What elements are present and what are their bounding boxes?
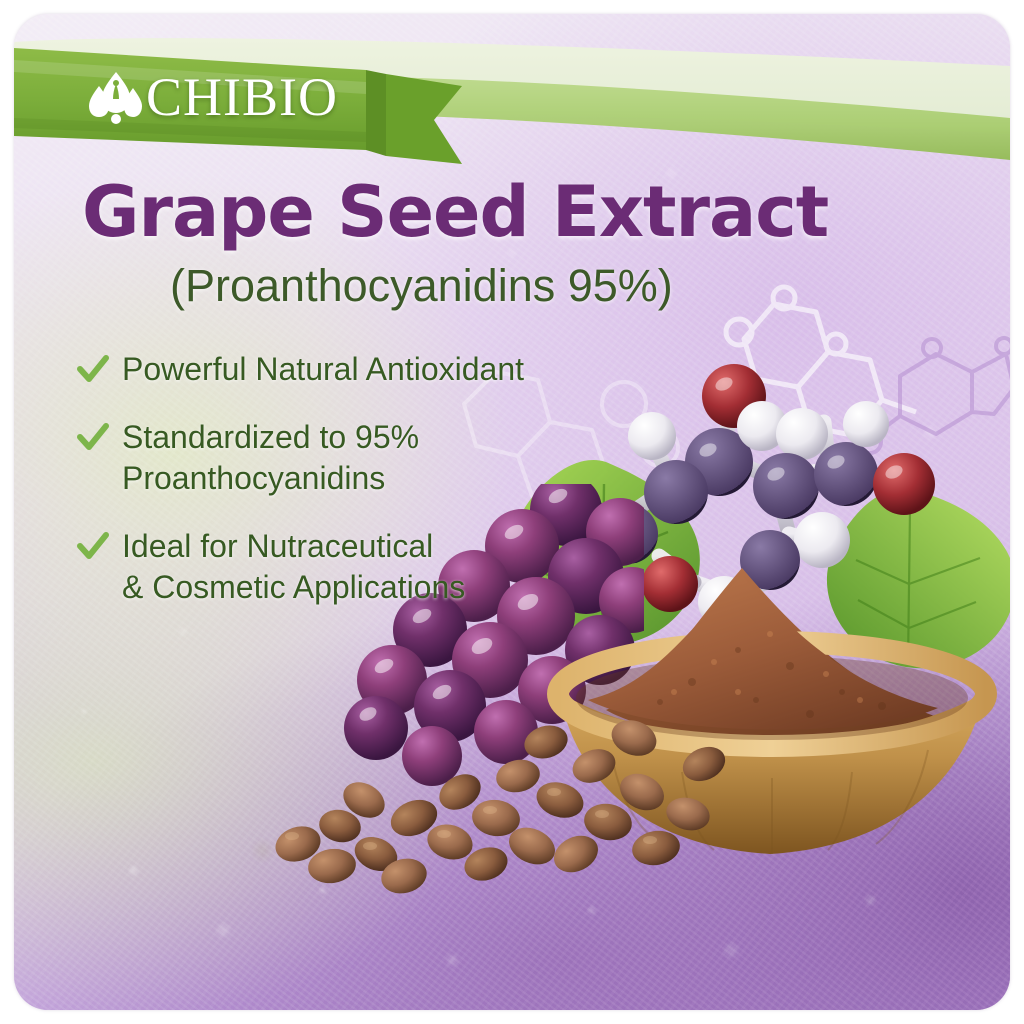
check-icon: [76, 530, 110, 564]
brand-wordmark: CHIBIO: [146, 66, 338, 128]
page-subtitle: (Proanthocyanidins 95%): [170, 262, 822, 309]
list-item: Standardized to 95% Proanthocyanidins: [76, 417, 596, 500]
banner-card: CHIBIO Grape Seed Extract (Proanthocyani…: [14, 14, 1010, 1010]
check-icon: [76, 421, 110, 455]
bullet-label: Standardized to 95% Proanthocyanidins: [122, 417, 419, 500]
page-title: Grape Seed Extract: [82, 177, 822, 248]
list-item: Ideal for Nutraceutical & Cosmetic Appli…: [76, 526, 596, 609]
feature-bullet-list: Powerful Natural Antioxidant Standardize…: [76, 349, 596, 635]
leaf-droplet-cluster-icon: [86, 70, 146, 126]
list-item: Powerful Natural Antioxidant: [76, 349, 596, 391]
check-icon: [76, 353, 110, 387]
bullet-label: Powerful Natural Antioxidant: [122, 349, 524, 391]
headline-block: Grape Seed Extract (Proanthocyanidins 95…: [82, 177, 822, 310]
bullet-label: Ideal for Nutraceutical & Cosmetic Appli…: [122, 526, 465, 609]
product-banner-canvas: CHIBIO Grape Seed Extract (Proanthocyani…: [0, 0, 1024, 1024]
